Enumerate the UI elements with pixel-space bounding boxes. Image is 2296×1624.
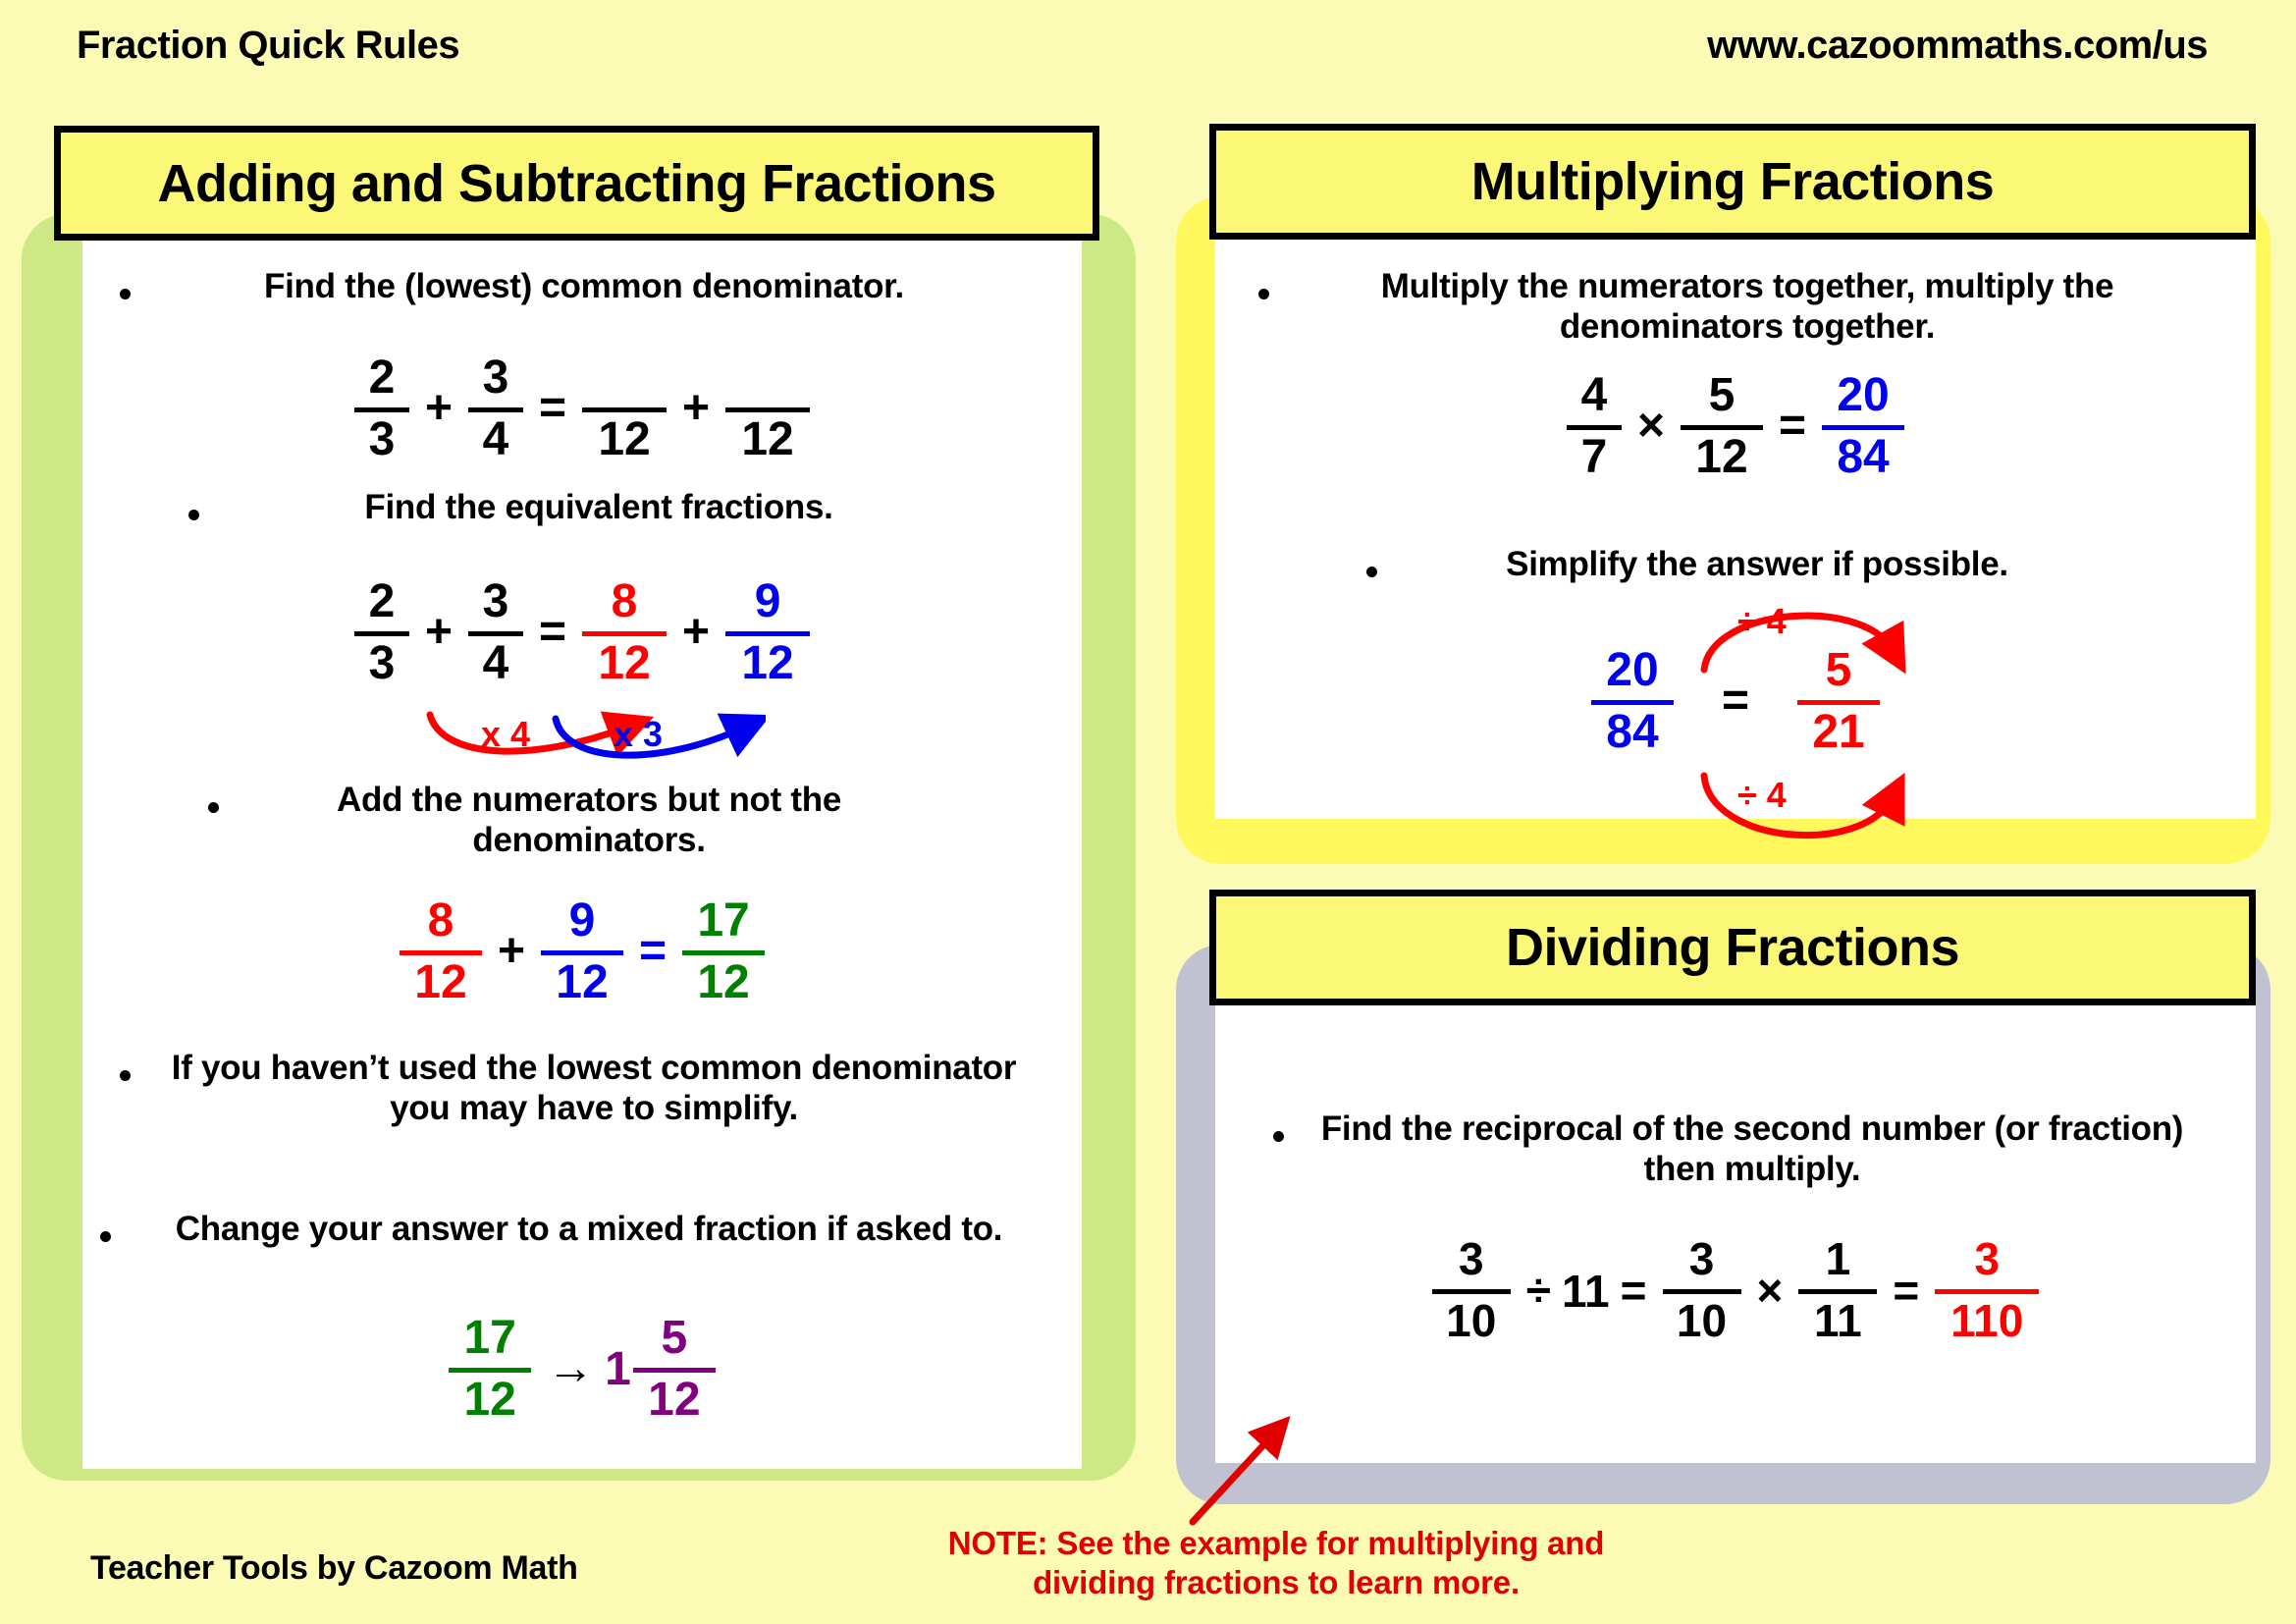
denominator: 84 xyxy=(1602,709,1662,758)
operator-times: × xyxy=(1757,1268,1784,1315)
denominator: 3 xyxy=(365,416,400,465)
poster-page: Fraction Quick Rules www.cazoommaths.com… xyxy=(0,0,2296,1624)
adding-bullet-3: Add the numerators but not the denominat… xyxy=(98,781,1070,860)
equation-multiply-fractions: 4 7 × 5 12 = 20 84 xyxy=(1215,363,2256,491)
fraction: 20 84 xyxy=(1591,647,1674,758)
denominator: 84 xyxy=(1833,434,1893,483)
fraction-bar xyxy=(633,1368,716,1373)
fraction-bar xyxy=(1797,700,1880,705)
fraction: 9 12 xyxy=(541,897,623,1008)
bullet-text: Find the equivalent fractions. xyxy=(364,488,832,526)
simplify-label-divide4-top: ÷ 4 xyxy=(1737,604,1787,639)
fraction: 9 12 xyxy=(725,578,810,689)
denominator: 12 xyxy=(594,640,654,689)
bullet-text: Simplify the answer if possible. xyxy=(1506,545,2008,583)
numerator: 9 xyxy=(565,897,600,947)
mixed-whole-number: 1 xyxy=(605,1346,631,1393)
denominator: 12 xyxy=(594,416,654,465)
numerator: 5 xyxy=(657,1315,691,1364)
note-pointer-arrow xyxy=(1158,1404,1315,1561)
operator-plus: + xyxy=(425,609,453,658)
bullet-dot xyxy=(208,802,219,813)
denominator: 10 xyxy=(1673,1298,1731,1347)
fraction: 5 12 xyxy=(1681,372,1763,483)
numerator xyxy=(764,354,772,404)
list-item: Find the (lowest) common denominator. xyxy=(157,267,1011,307)
multiplying-panel-header: Multiplying Fractions xyxy=(1209,124,2256,240)
bullet-text: Add the numerators but not the denominat… xyxy=(337,781,841,859)
fraction: 17 12 xyxy=(682,897,765,1008)
fraction: 3 10 xyxy=(1432,1236,1511,1347)
numerator: 3 xyxy=(479,578,513,627)
website-url: www.cazoommaths.com/us xyxy=(1707,24,2208,68)
multiplying-bullet-1: Multiply the numerators together, multip… xyxy=(1227,267,2248,347)
operator-arrow: → xyxy=(547,1345,594,1394)
numerator xyxy=(620,354,628,404)
fraction: 3 10 xyxy=(1663,1236,1741,1347)
fraction-bar xyxy=(725,631,810,636)
fraction-bar xyxy=(682,950,765,955)
denominator: 12 xyxy=(737,416,797,465)
fraction: 1 11 xyxy=(1798,1236,1877,1347)
fraction-bar xyxy=(400,950,482,955)
operator-plus: + xyxy=(682,609,710,658)
numerator: 3 xyxy=(479,354,513,404)
denominator: 3 xyxy=(365,640,400,689)
numerator: 5 xyxy=(1705,372,1739,421)
bullet-text: Find the reciprocal of the second number… xyxy=(1321,1110,2183,1188)
bullet-text: Change your answer to a mixed fraction i… xyxy=(176,1210,1002,1248)
fraction: 3 4 xyxy=(468,578,523,689)
numerator: 3 xyxy=(1970,1236,2003,1285)
fraction-bar xyxy=(1681,425,1763,430)
adding-bullet-list: Find the (lowest) common denominator. xyxy=(98,267,1070,307)
dividing-panel-header: Dividing Fractions xyxy=(1209,890,2256,1005)
whole-number: 11 xyxy=(1562,1269,1610,1314)
numerator: 2 xyxy=(365,578,400,627)
operator-equals: = xyxy=(539,385,566,434)
list-item: Find the reciprocal of the second number… xyxy=(1310,1110,2194,1189)
numerator: 3 xyxy=(1685,1236,1719,1285)
numerator: 20 xyxy=(1602,647,1662,696)
fraction-bar xyxy=(1567,425,1622,430)
numerator: 2 xyxy=(365,354,400,404)
fraction-bar xyxy=(725,407,810,412)
fraction-bar xyxy=(1591,700,1674,705)
fraction-bar xyxy=(1432,1289,1511,1294)
operator-plus: + xyxy=(425,385,453,434)
footer-credit: Teacher Tools by Cazoom Math xyxy=(90,1549,578,1588)
fraction: 8 12 xyxy=(400,897,482,1008)
simplify-label-divide4-bottom: ÷ 4 xyxy=(1737,778,1787,813)
operator-equals: = xyxy=(1779,403,1806,452)
list-item: If you haven’t used the lowest common de… xyxy=(157,1049,1031,1128)
list-item: Multiply the numerators together, multip… xyxy=(1296,267,2199,347)
fraction: 5 12 xyxy=(633,1315,716,1426)
numerator: 17 xyxy=(693,897,753,947)
equation-equivalent-fractions: 2 3 + 3 4 = 8 12 + 9 12 xyxy=(82,569,1082,697)
numerator: 1 xyxy=(1822,1236,1855,1285)
fraction: 2 3 xyxy=(354,578,409,689)
operator-equals: = xyxy=(539,609,566,658)
fraction-bar xyxy=(1663,1289,1741,1294)
equation-add-numerators: 8 12 + 9 12 = 17 12 xyxy=(82,889,1082,1016)
bullet-dot xyxy=(1273,1131,1284,1142)
fraction: 20 84 xyxy=(1822,372,1904,483)
dividing-panel-title: Dividing Fractions xyxy=(1506,917,1959,978)
operator-equals: = xyxy=(639,928,667,977)
fraction-bar xyxy=(449,1368,531,1373)
numerator: 3 xyxy=(1455,1236,1488,1285)
fraction-bar xyxy=(468,631,523,636)
equation-mixed-fraction: 17 12 → 1 5 12 xyxy=(82,1306,1082,1434)
fraction-bar xyxy=(1935,1289,2039,1294)
operator-equals: = xyxy=(1893,1268,1919,1315)
bullet-dot xyxy=(188,510,199,520)
denominator: 110 xyxy=(1947,1298,2027,1347)
list-item: Add the numerators but not the denominat… xyxy=(245,781,933,860)
adding-panel-title: Adding and Subtracting Fractions xyxy=(157,153,995,214)
equation-common-denominator: 2 3 + 3 4 = 12 + 12 xyxy=(82,346,1082,473)
bullet-dot xyxy=(100,1231,111,1242)
note-line-2: dividing fractions to learn more. xyxy=(874,1563,1679,1602)
denominator: 12 xyxy=(410,959,470,1008)
numerator: 8 xyxy=(608,578,642,627)
fraction-bar xyxy=(582,407,667,412)
denominator: 4 xyxy=(479,640,513,689)
adding-bullet-4: If you haven’t used the lowest common de… xyxy=(98,1049,1070,1128)
denominator: 12 xyxy=(644,1377,704,1426)
fraction-bar xyxy=(1822,425,1904,430)
numerator: 9 xyxy=(751,578,785,627)
list-item: Find the equivalent fractions. xyxy=(226,488,972,528)
numerator: 5 xyxy=(1822,647,1856,696)
operator-equals: = xyxy=(1621,1268,1647,1315)
dividing-bullet-1: Find the reciprocal of the second number… xyxy=(1227,1110,2248,1189)
fraction-bar xyxy=(1798,1289,1877,1294)
denominator: 12 xyxy=(737,640,797,689)
fraction: 8 12 xyxy=(582,578,667,689)
denominator: 21 xyxy=(1808,709,1868,758)
numerator: 4 xyxy=(1577,372,1612,421)
denominator: 11 xyxy=(1810,1298,1866,1347)
multiplier-label-x3: x 3 xyxy=(614,717,663,752)
fraction-bar xyxy=(468,407,523,412)
multiplying-panel-title: Multiplying Fractions xyxy=(1471,151,1995,212)
adding-panel-header: Adding and Subtracting Fractions xyxy=(54,126,1099,241)
bullet-dot xyxy=(1258,289,1269,299)
operator-divide: ÷ xyxy=(1526,1268,1551,1315)
denominator: 12 xyxy=(1691,434,1751,483)
equation-simplify-fraction: 20 84 = 5 21 xyxy=(1215,628,2256,776)
fraction-bar xyxy=(354,407,409,412)
fraction-bar xyxy=(354,631,409,636)
bullet-dot xyxy=(1366,567,1377,577)
multiplier-label-x4: x 4 xyxy=(481,717,530,752)
operator-plus: + xyxy=(682,385,710,434)
numerator: 20 xyxy=(1833,372,1893,421)
denominator: 12 xyxy=(552,959,612,1008)
adding-bullet-5: Change your answer to a mixed fraction i… xyxy=(98,1210,1070,1250)
equation-divide-fractions: 3 10 ÷ 11 = 3 10 × 1 11 = 3 110 xyxy=(1215,1222,2256,1360)
operator-equals: = xyxy=(1722,677,1749,727)
denominator: 12 xyxy=(693,959,753,1008)
bullet-text: Find the (lowest) common denominator. xyxy=(264,267,904,305)
denominator: 12 xyxy=(459,1377,519,1426)
fraction: 17 12 xyxy=(449,1315,531,1426)
bullet-text: If you haven’t used the lowest common de… xyxy=(172,1049,1016,1127)
bullet-dot xyxy=(120,289,131,299)
fraction: 3 110 xyxy=(1935,1236,2039,1347)
list-item: Simplify the answer if possible. xyxy=(1404,545,2110,585)
operator-times: × xyxy=(1637,403,1665,452)
fraction-bar xyxy=(582,631,667,636)
fraction-bar xyxy=(541,950,623,955)
denominator: 7 xyxy=(1577,434,1612,483)
fraction: 2 3 xyxy=(354,354,409,465)
page-title: Fraction Quick Rules xyxy=(77,24,459,68)
numerator: 17 xyxy=(459,1315,519,1364)
numerator: 8 xyxy=(424,897,458,947)
fraction: 5 21 xyxy=(1797,647,1880,758)
adding-bullet-2: Find the equivalent fractions. xyxy=(98,488,1070,528)
fraction: 3 4 xyxy=(468,354,523,465)
multiplying-bullet-2: Simplify the answer if possible. xyxy=(1227,545,2248,585)
bullet-dot xyxy=(120,1070,131,1081)
bullet-text: Multiply the numerators together, multip… xyxy=(1381,267,2114,346)
denominator: 4 xyxy=(479,416,513,465)
fraction: 12 xyxy=(582,354,667,465)
fraction: 12 xyxy=(725,354,810,465)
denominator: 10 xyxy=(1442,1298,1500,1347)
list-item: Change your answer to a mixed fraction i… xyxy=(137,1210,1041,1250)
fraction: 4 7 xyxy=(1567,372,1622,483)
operator-plus: + xyxy=(498,928,525,977)
